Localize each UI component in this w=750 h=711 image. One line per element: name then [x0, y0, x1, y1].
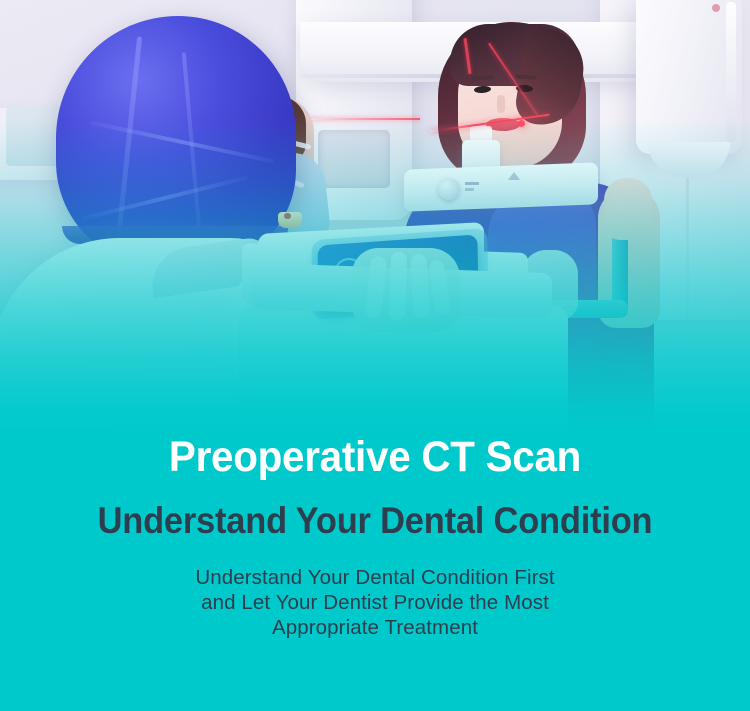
- banner-text-block: Preoperative CT Scan Understand Your Den…: [0, 436, 750, 640]
- body-line-3: Appropriate Treatment: [0, 615, 750, 640]
- clinic-photo: [0, 0, 750, 470]
- scanner-tray-marking-secondary: [465, 188, 474, 191]
- cbct-sensor-head-strip: [726, 2, 736, 142]
- scanner-tray-marking: [465, 182, 479, 185]
- dental-tooth-model-marker: [284, 213, 291, 219]
- cbct-sensor-box: [318, 130, 390, 188]
- banner-body-copy: Understand Your Dental Condition First a…: [0, 565, 750, 640]
- banner-title: Preoperative CT Scan: [23, 436, 728, 479]
- banner-subtitle: Understand Your Dental Condition: [26, 502, 724, 539]
- glove-finger: [389, 252, 407, 321]
- cbct-sensor-indicator-dot: [712, 4, 720, 12]
- glove-finger: [410, 254, 429, 319]
- scanner-adjust-knob: [438, 178, 460, 200]
- laser-alignment-spot: [518, 120, 525, 127]
- scanner-tray-triangle-mark: [508, 172, 520, 180]
- patient-nose: [497, 95, 505, 113]
- laser-alignment-line-left: [300, 118, 420, 120]
- patient-hand: [604, 178, 652, 240]
- preoperative-ct-scan-banner: Preoperative CT Scan Understand Your Den…: [0, 0, 750, 711]
- body-line-2: and Let Your Dentist Provide the Most: [0, 590, 750, 615]
- scanner-head-tray: [404, 162, 598, 211]
- body-line-1: Understand Your Dental Condition First: [0, 565, 750, 590]
